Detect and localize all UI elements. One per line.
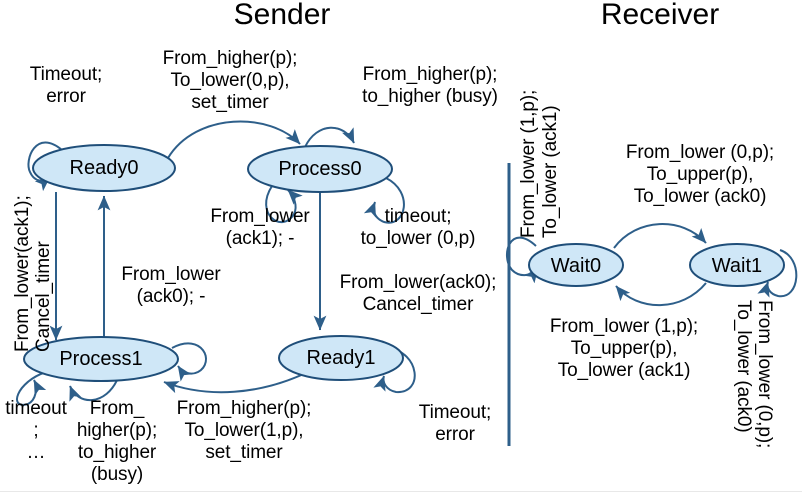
edge-label-process1-to-ready0-line1: From_lower bbox=[96, 264, 246, 285]
receiver-title: Receiver bbox=[560, 0, 760, 32]
edge-process0-self-top bbox=[305, 128, 354, 147]
edge-label-ready1-self-line1: Timeout; bbox=[400, 402, 510, 423]
edge-label-process0-self-right-line1: timeout; bbox=[338, 206, 498, 227]
edge-label-process0-self-top-line2: to_higher (busy) bbox=[330, 86, 530, 107]
edge-label-process0-to-ready1-line2: Cancel_timer bbox=[328, 294, 508, 315]
edge-wait0-to-wait1 bbox=[614, 224, 706, 248]
state-label-process0: Process0 bbox=[250, 158, 390, 181]
edge-label-wait1-self-line1: From_lower (0,p); bbox=[754, 300, 775, 490]
edge-label-ready0-self-line1: Timeout; bbox=[6, 64, 126, 85]
state-diagram-canvas: Sender Receiver Ready0 Process0 Process1… bbox=[0, 0, 802, 501]
edge-label-ready1-to-process1-line2: To_lower(1,p), bbox=[152, 420, 336, 441]
state-label-ready1: Ready1 bbox=[281, 347, 401, 370]
state-label-ready0: Ready0 bbox=[34, 157, 174, 180]
edge-label-ready1-self-line2: error bbox=[400, 424, 510, 445]
edge-label-ready0-to-process0-line2: To_lower(0,p), bbox=[130, 70, 330, 91]
edge-label-wait0-to-wait1-line2: To_upper(p), bbox=[600, 164, 800, 185]
edge-label-ready1-to-process1-line1: From_higher(p); bbox=[152, 398, 336, 419]
sender-title: Sender bbox=[142, 0, 422, 32]
edge-label-process0-self-left-line1: From_lower bbox=[190, 206, 330, 227]
edge-label-wait0-to-wait1-line3: To_lower (ack0) bbox=[600, 186, 800, 207]
edge-label-wait0-self-line1: From_lower (1,p); bbox=[518, 38, 539, 238]
edge-label-wait0-self-line2: To_lower (ack1) bbox=[540, 38, 561, 238]
edge-label-ready1-to-process1-line3: set_timer bbox=[152, 442, 336, 463]
state-label-wait0: Wait0 bbox=[531, 255, 621, 278]
edge-label-process0-to-ready1-line1: From_lower(ack0); bbox=[328, 272, 508, 293]
edge-label-wait1-to-wait0-line2: To_upper(p), bbox=[524, 338, 724, 359]
edge-label-ready0-self-line2: error bbox=[6, 86, 126, 107]
edge-label-process1-to-ready0-line2: (ack0); - bbox=[96, 286, 246, 307]
edge-label-ready0-to-process0-line3: set_timer bbox=[130, 92, 330, 113]
edge-label-process0-self-top-line1: From_higher(p); bbox=[330, 64, 530, 85]
edge-label-wait1-self-line2: To_lower (ack0) bbox=[733, 300, 754, 490]
edge-label-process1-self-mid-line4: (busy) bbox=[62, 464, 172, 485]
edge-label-process0-self-left-line2: (ack1); - bbox=[190, 228, 330, 249]
edge-label-process0-self-right-line2: to_lower (0,p) bbox=[338, 228, 498, 249]
edge-label-wait1-to-wait0-line1: From_lower (1,p); bbox=[524, 316, 724, 337]
edge-label-ready0-to-process0-line1: From_higher(p); bbox=[130, 48, 330, 69]
edge-label-wait0-to-wait1-line1: From_lower (0,p); bbox=[600, 142, 800, 163]
edge-label-wait1-to-wait0-line3: To_lower (ack1) bbox=[524, 360, 724, 381]
state-label-wait1: Wait1 bbox=[692, 255, 782, 278]
edge-label-ready0-to-process1-line1: From_lower(ack1); bbox=[12, 152, 33, 352]
edge-label-ready0-to-process1-line2: Cancel_timer bbox=[33, 152, 54, 352]
slide-bottom-edge bbox=[0, 491, 802, 501]
edge-wait1-to-wait0 bbox=[616, 283, 706, 305]
